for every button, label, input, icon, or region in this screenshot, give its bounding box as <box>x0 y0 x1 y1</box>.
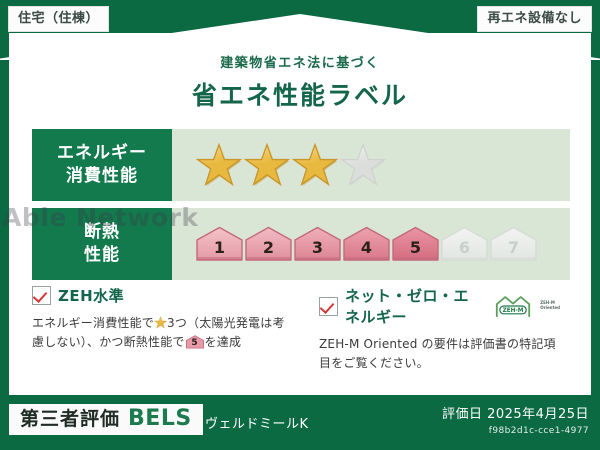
insulation-label-line1: 断熱 <box>84 221 120 244</box>
bels-scheme-name: BELS <box>128 408 192 430</box>
insulation-performance-label: 断熱 性能 <box>32 208 172 280</box>
criterion-net-zero-energy: ネット・ゼロ・エネルギー ZEH-M ZEH-M Oriented ZEH-M … <box>301 285 570 374</box>
criterion-zeh-body: エネルギー消費性能で3つ（太陽光発電は考慮しない）、かつ断熱性能で5を達成 <box>32 314 291 353</box>
house-badge-level: 1 <box>214 238 225 262</box>
star-filled-icon <box>244 142 290 188</box>
evaluation-date-value: 2025年4月25日 <box>487 407 589 422</box>
criterion-nze-body: ZEH-M Oriented の要件は評価書の特記項目をご覧ください。 <box>319 335 560 374</box>
house-badge-filled: 2 <box>245 226 292 262</box>
evaluation-date: 評価日 2025年4月25日 <box>442 403 589 422</box>
svg-text:ZEH-M: ZEH-M <box>503 308 524 314</box>
criterion-zeh: ZEH水準 エネルギー消費性能で3つ（太陽光発電は考慮しない）、かつ断熱性能で5… <box>32 285 301 374</box>
house-badge-empty: 7 <box>490 226 537 262</box>
insulation-scale: 1234567 <box>172 208 570 280</box>
star-filled-icon <box>292 142 338 188</box>
criterion-nze-title: ネット・ゼロ・エネルギー <box>345 285 484 327</box>
performance-rows: エネルギー 消費性能 断熱 性能 1234567 <box>32 129 570 287</box>
house-badge-level: 4 <box>361 238 372 262</box>
inline-house-badge: 5 <box>186 335 204 349</box>
star-rating <box>172 129 570 201</box>
criterion-zeh-title: ZEH水準 <box>58 285 124 306</box>
house-badge-filled: 1 <box>196 226 243 262</box>
house-badge-level: 7 <box>508 238 519 262</box>
zeh-m-caption-line2: Oriented <box>540 305 560 310</box>
criterion-zeh-header: ZEH水準 <box>32 285 291 306</box>
energy-performance-label: エネルギー 消費性能 <box>32 129 172 201</box>
title-block: 建築物省エネ法に基づく 省エネ性能ラベル <box>9 52 591 112</box>
nze-checkbox-checked-icon <box>319 297 338 316</box>
evaluation-info: 評価日 2025年4月25日 f98b2d1c-cce1-4977 <box>442 403 589 436</box>
house-badge-filled: 3 <box>294 226 341 262</box>
zeh-body-part3: を達成 <box>205 335 242 349</box>
evaluation-id: f98b2d1c-cce1-4977 <box>442 426 589 436</box>
zeh-m-logo-caption: ZEH-M Oriented <box>540 301 560 310</box>
energy-performance-row: エネルギー 消費性能 <box>32 129 570 201</box>
inline-house-level: 5 <box>186 336 204 351</box>
zeh-m-logo-icon: ZEH-M <box>495 294 531 318</box>
inline-star-icon <box>154 316 167 329</box>
star-filled-icon <box>196 142 242 188</box>
bels-badge: 第三者評価 BELS <box>9 404 203 435</box>
house-badge-empty: 6 <box>441 226 488 262</box>
zeh-checkbox-checked-icon <box>32 286 51 305</box>
building-type-tag: 住宅（住棟） <box>8 6 109 32</box>
title-subtitle: 建築物省エネ法に基づく <box>9 52 591 71</box>
third-party-evaluation-label: 第三者評価 <box>20 410 120 429</box>
building-name: ヴェルドミールK <box>205 413 309 432</box>
house-badge-filled: 5 <box>392 226 439 262</box>
house-badge-level: 6 <box>459 238 470 262</box>
zeh-body-part1: エネルギー消費性能で <box>32 316 154 330</box>
house-badge-level: 2 <box>263 238 274 262</box>
energy-performance-label: 住宅（住棟） 再エネ設備なし 建築物省エネ法に基づく 省エネ性能ラベル エネルギ… <box>0 0 600 450</box>
star-empty-icon <box>340 142 386 188</box>
house-badge-filled: 4 <box>343 226 390 262</box>
evaluation-date-label: 評価日 <box>442 407 483 422</box>
energy-label-line1: エネルギー <box>57 142 147 165</box>
house-badge-level: 3 <box>312 238 323 262</box>
criteria-section: ZEH水準 エネルギー消費性能で3つ（太陽光発電は考慮しない）、かつ断熱性能で5… <box>32 285 570 374</box>
house-badge-group: 1234567 <box>196 226 537 262</box>
insulation-performance-row: 断熱 性能 1234567 <box>32 208 570 280</box>
renewable-equipment-tag: 再エネ設備なし <box>477 6 592 32</box>
house-badge-level: 5 <box>410 238 421 262</box>
footer-bar: 第三者評価 BELS ヴェルドミールK 評価日 2025年4月25日 f98b2… <box>0 395 600 450</box>
label-sheet: 建築物省エネ法に基づく 省エネ性能ラベル エネルギー 消費性能 断熱 性能 12… <box>9 33 591 395</box>
criterion-nze-header: ネット・ゼロ・エネルギー ZEH-M ZEH-M Oriented <box>319 285 560 327</box>
insulation-label-line2: 性能 <box>84 244 120 267</box>
page-title: 省エネ性能ラベル <box>9 76 591 112</box>
energy-label-line2: 消費性能 <box>66 165 138 188</box>
